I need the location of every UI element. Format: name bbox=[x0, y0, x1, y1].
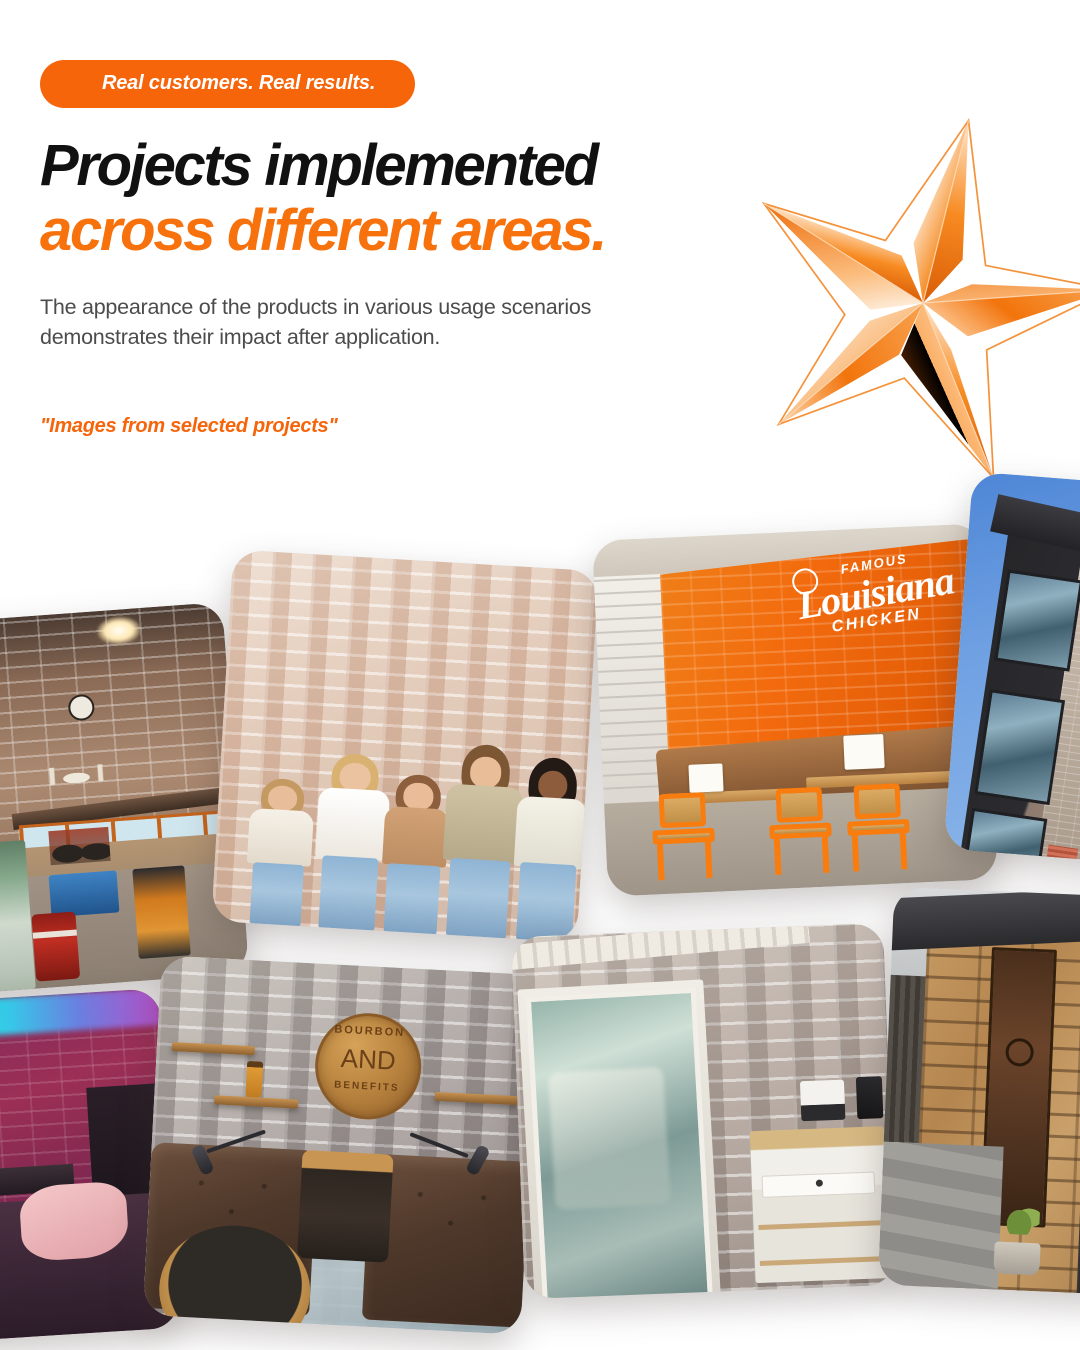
coffee-console-table bbox=[749, 1126, 889, 1283]
promo-page: Real customers. Real results. Projects i… bbox=[0, 0, 1080, 1350]
window-mid bbox=[974, 689, 1065, 806]
red-barrel bbox=[31, 911, 80, 981]
gallery-caption: "Images from selected projects" bbox=[40, 415, 800, 438]
coffee-machine-black bbox=[855, 1077, 883, 1120]
bourbon-bottle bbox=[245, 1061, 263, 1098]
photo-workshop-garage[interactable] bbox=[0, 602, 249, 994]
photo-team-group[interactable] bbox=[211, 549, 598, 942]
photo-exterior-stone-passage[interactable] bbox=[878, 887, 1080, 1295]
header-block: Real customers. Real results. Projects i… bbox=[40, 60, 800, 438]
headline-line-2: across different areas. bbox=[40, 199, 800, 264]
subheading-copy: The appearance of the products in variou… bbox=[40, 292, 720, 353]
restaurant-wall-signage: FAMOUS Louisiana CHICKEN bbox=[780, 552, 973, 703]
people-group bbox=[211, 713, 589, 943]
photo-chicken-restaurant[interactable]: FAMOUS Louisiana CHICKEN bbox=[592, 523, 998, 896]
sliding-door-frame bbox=[518, 979, 722, 1299]
person-5 bbox=[507, 755, 591, 942]
eyebrow-badge: Real customers. Real results. bbox=[40, 60, 415, 108]
motorcycle bbox=[48, 827, 110, 865]
window-upper bbox=[994, 569, 1080, 672]
barrel-side-table bbox=[297, 1150, 393, 1263]
project-photo-collage: FAMOUS Louisiana CHICKEN bbox=[0, 460, 1080, 1350]
chair-1 bbox=[650, 792, 716, 881]
page-title: Projects implemented across different ar… bbox=[40, 134, 800, 264]
plant-pot bbox=[993, 1242, 1040, 1276]
console-shelf-1 bbox=[758, 1220, 881, 1230]
photo-podcast-studio[interactable]: BOURBON AND BENEFITS WARRIOR ALLIANCE bbox=[143, 955, 539, 1334]
person-1 bbox=[241, 777, 319, 927]
glass-reflection bbox=[549, 1066, 672, 1209]
seal-middle-text: AND bbox=[317, 1035, 419, 1084]
tool-cart bbox=[132, 866, 190, 959]
chair-2 bbox=[767, 786, 833, 875]
motorcycle-lift bbox=[49, 871, 120, 918]
coffee-machine-white bbox=[800, 1080, 846, 1122]
headline-line-1: Projects implemented bbox=[40, 134, 800, 199]
paving-slabs bbox=[878, 1141, 1004, 1289]
console-shelf-2 bbox=[760, 1257, 883, 1267]
photo-patio-sliding-door[interactable] bbox=[511, 923, 897, 1299]
table-placard-2 bbox=[843, 735, 885, 771]
table-placard-1 bbox=[688, 763, 723, 793]
red-brick-band bbox=[1045, 845, 1079, 867]
potted-plant bbox=[1005, 1200, 1040, 1235]
chair-3 bbox=[845, 783, 911, 872]
